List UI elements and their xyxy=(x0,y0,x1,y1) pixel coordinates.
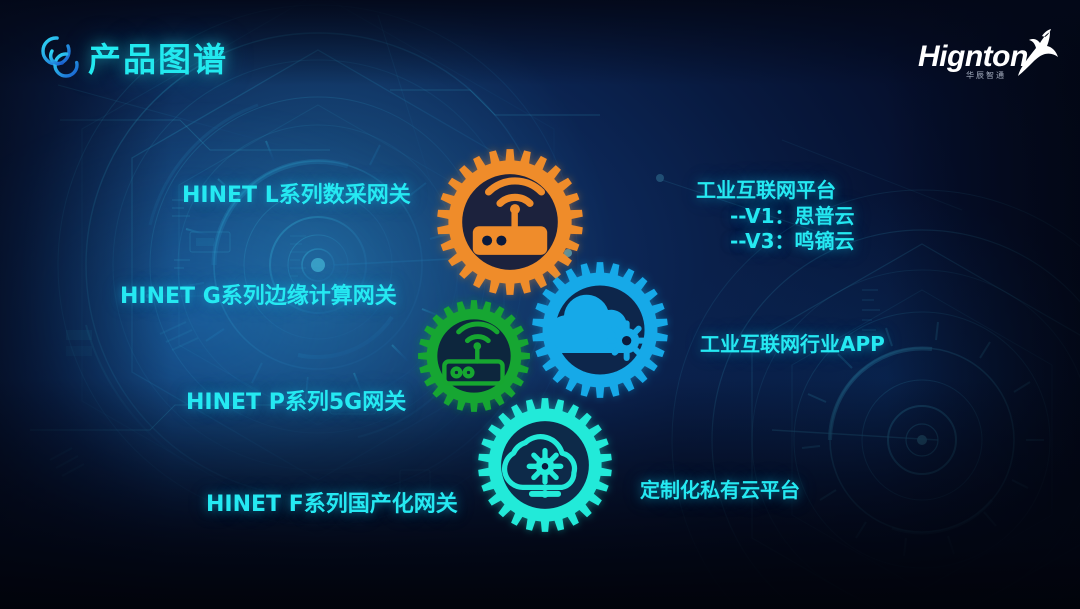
product-label-title: 工业互联网行业APP xyxy=(700,332,885,356)
interlocking-circles-icon xyxy=(32,32,86,86)
product-label-left-2: HINET G系列边缘计算网关 xyxy=(120,283,397,311)
brand-logo: Hignton 华辰智通 xyxy=(918,26,1058,90)
page-title: 产品图谱 xyxy=(88,33,228,81)
product-label-right-3: 定制化私有云平台 xyxy=(640,478,800,504)
slide-header: 产品图谱 Hignton 华辰智通 xyxy=(0,0,1080,112)
brand-wordmark: Hignton xyxy=(918,40,1028,74)
product-label-title: 工业互联网平台 xyxy=(696,178,836,202)
product-label-title: 定制化私有云平台 xyxy=(640,478,800,502)
brand-wordmark-cn: 华辰智通 xyxy=(966,70,1006,81)
gear-private-cloud[interactable] xyxy=(472,392,618,538)
product-label-subline-2: --V3：鸣镝云 xyxy=(696,229,855,255)
product-label-left-1: HINET L系列数采网关 xyxy=(182,182,411,210)
gear-cloud-platform[interactable] xyxy=(526,256,674,404)
product-label-right-1: 工业互联网平台--V1：思普云--V3：鸣镝云 xyxy=(696,178,855,255)
product-label-right-2: 工业互联网行业APP xyxy=(700,332,885,358)
product-label-subline-1: --V1：思普云 xyxy=(696,204,855,230)
product-label-left-3: HINET P系列5G网关 xyxy=(186,389,406,417)
product-label-left-4: HINET F系列国产化网关 xyxy=(206,491,458,519)
slide-canvas: 产品图谱 Hignton 华辰智通 xyxy=(0,0,1080,609)
